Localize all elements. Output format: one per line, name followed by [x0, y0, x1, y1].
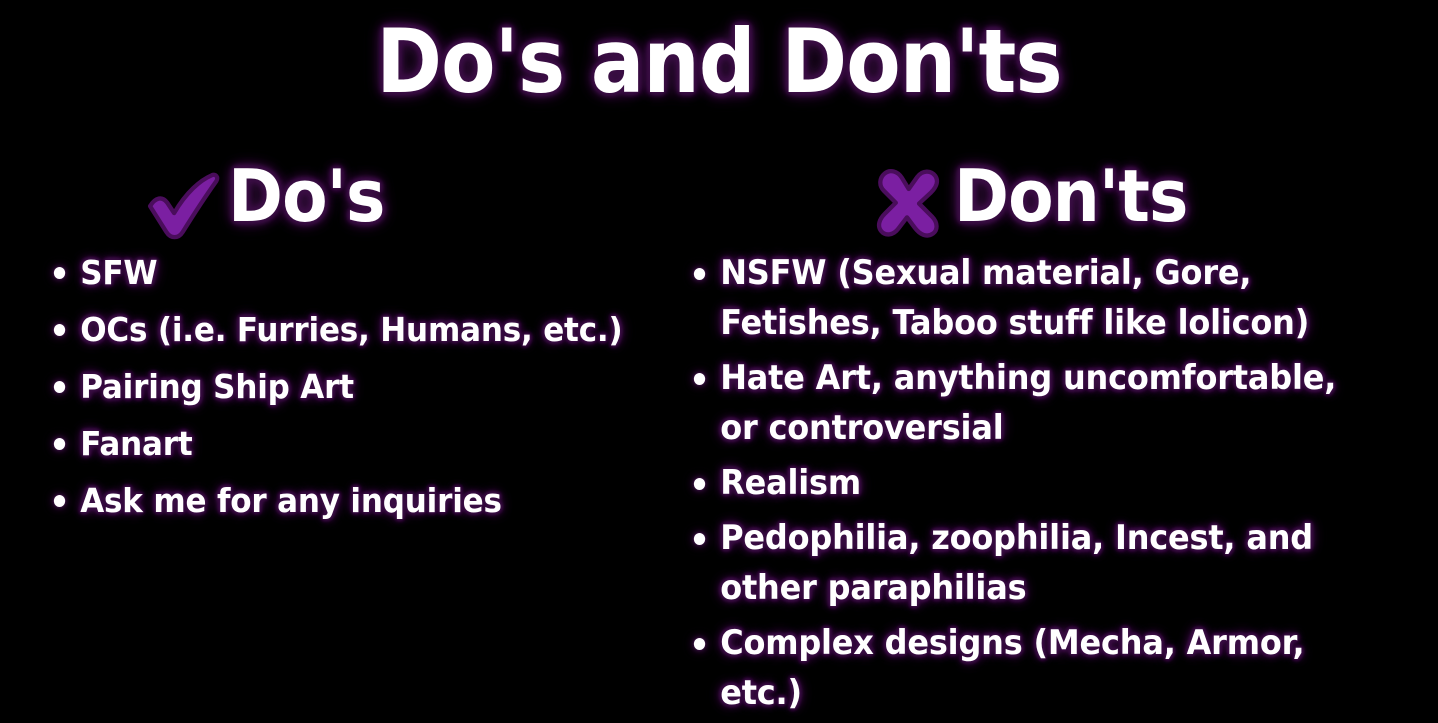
list-item-text: SFW [80, 253, 157, 292]
list-item: OCs (i.e. Furries, Humans, etc.) [52, 305, 635, 355]
columns-container: Do's SFW OCs (i.e. Furries, Humans, etc.… [0, 150, 1438, 686]
cross-mark-icon [864, 158, 950, 244]
dos-heading-row: Do's [52, 150, 672, 242]
page-title: Do's and Don'ts [72, 8, 1366, 116]
list-item-text: NSFW (Sexual material, Gore, Fetishes, T… [720, 253, 1309, 343]
bullet-icon [54, 438, 65, 450]
bullet-icon [54, 381, 65, 393]
list-item-text: Pedophilia, zoophilia, Incest, and other… [720, 518, 1313, 608]
list-item-text: OCs (i.e. Furries, Humans, etc.) [80, 310, 622, 349]
dos-heading-label: Do's [228, 153, 385, 239]
list-item: NSFW (Sexual material, Gore, Fetishes, T… [692, 248, 1371, 348]
bullet-icon [54, 324, 65, 336]
list-item: Hate Art, anything uncomfortable, or con… [692, 353, 1371, 453]
bullet-icon [694, 268, 705, 280]
list-item-text: Fanart [80, 424, 192, 463]
list-item-text: Ask me for any inquiries [80, 481, 502, 520]
list-item: Pairing Ship Art [52, 362, 635, 412]
donts-heading-label: Don'ts [954, 153, 1188, 239]
bullet-icon [694, 533, 705, 545]
bullet-icon [694, 478, 705, 490]
list-item: Ask me for any inquiries [52, 476, 635, 526]
list-item-text: Complex designs (Mecha, Armor, etc.) [720, 623, 1304, 713]
list-item: Fanart [52, 419, 635, 469]
bullet-icon [54, 495, 65, 507]
list-item: Pedophilia, zoophilia, Incest, and other… [692, 513, 1371, 613]
bullet-icon [694, 373, 705, 385]
donts-column: Don'ts NSFW (Sexual material, Gore, Feti… [692, 150, 1414, 723]
dos-column: Do's SFW OCs (i.e. Furries, Humans, etc.… [52, 150, 672, 533]
list-item: SFW [52, 248, 635, 298]
bullet-icon [694, 638, 705, 650]
list-item-text: Hate Art, anything uncomfortable, or con… [720, 358, 1336, 448]
bullet-icon [54, 267, 65, 279]
check-mark-icon [138, 158, 224, 244]
dos-list: SFW OCs (i.e. Furries, Humans, etc.) Pai… [52, 248, 672, 526]
dos-and-donts-poster: Do's and Don'ts Do's SFW OCs (i.e. Furri… [0, 0, 1438, 686]
list-item: Complex designs (Mecha, Armor, etc.) [692, 618, 1371, 718]
donts-heading-row: Don'ts [692, 150, 1414, 242]
donts-list: NSFW (Sexual material, Gore, Fetishes, T… [692, 248, 1414, 718]
list-item-text: Pairing Ship Art [80, 367, 354, 406]
list-item-text: Realism [720, 463, 861, 503]
list-item: Realism [692, 458, 1371, 508]
